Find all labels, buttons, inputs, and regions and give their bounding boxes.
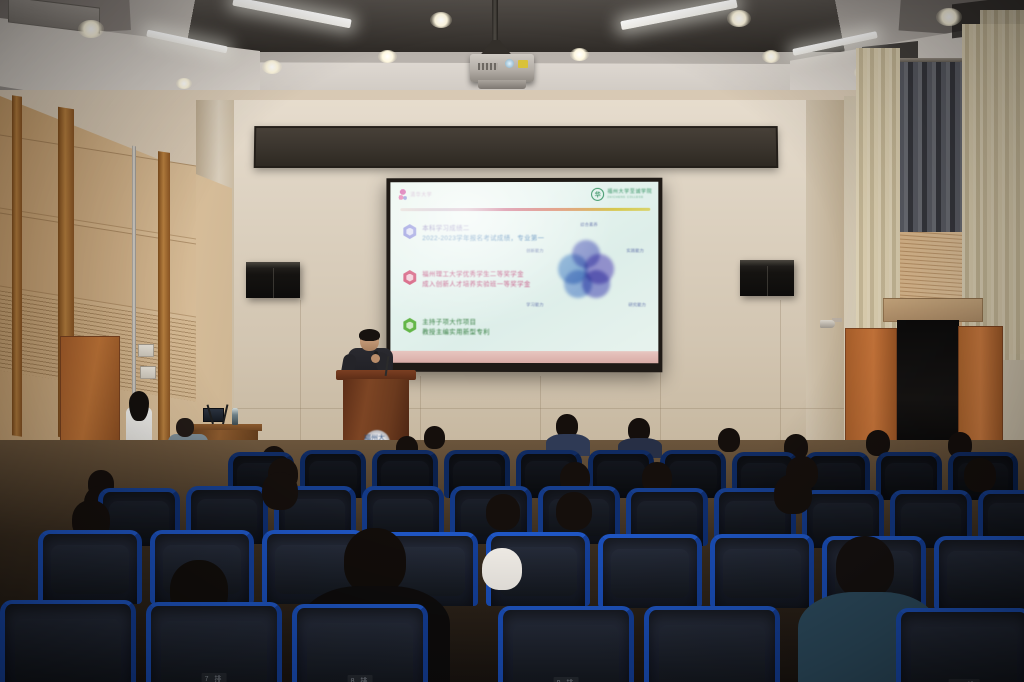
slide-logo-left: 清华大学 [398, 188, 454, 201]
projector-lens-icon [505, 59, 514, 68]
attendant-hair [129, 391, 149, 421]
audience-head-d1 [344, 528, 406, 594]
slide-bullet-3-line2: 教授主编实用新型专利 [422, 328, 490, 338]
door-opening [897, 320, 959, 452]
security-camera [820, 318, 842, 330]
left-wall-trim-2 [12, 95, 22, 437]
banner-valance-rail [254, 126, 779, 168]
ceiling-downlight-1 [78, 20, 104, 38]
left-exit-door[interactable] [60, 336, 120, 452]
front-wall-pillar-right [806, 100, 844, 450]
projector-badge-icon [518, 60, 528, 68]
slide-logo-right: 华 福州大学至诚学院 ZHICHENG COLLEGE [591, 187, 652, 201]
slide-org-name: 福州大学至诚学院 [607, 189, 652, 195]
seat-cushion [659, 625, 765, 682]
diagram-petal-bottom-right [582, 270, 610, 298]
screen-bottom-band [390, 351, 658, 363]
audience-head-far-5 [718, 428, 740, 452]
slide-bullet-1-text: 本科学习成绩二 2022-2023学年报名考试成绩，专业第一 [422, 224, 544, 244]
seat-cushion [911, 627, 1017, 682]
audience-head-d3 [482, 548, 522, 590]
diagram-label-1: 创新能力 [518, 248, 552, 254]
ceiling-downlight-4 [430, 12, 452, 28]
seat-cushion [988, 503, 1024, 541]
curtain-far-right-panel[interactable] [980, 10, 1024, 360]
seat-c7[interactable] [934, 536, 1024, 610]
seat-number-plate: 8 排 [348, 675, 373, 682]
slide-bullet-2-line1: 福州理工大学优秀学生二等奖学金 [422, 270, 530, 280]
wall-switch-plate-2[interactable] [140, 366, 156, 379]
projector-base [478, 80, 526, 89]
presenter-hand [371, 354, 380, 363]
slide-bullet-1-line1: 本科学习成绩二 [422, 224, 544, 234]
seat-cushion [813, 503, 873, 541]
seat-d2[interactable]: 8 排 [292, 604, 428, 682]
ceiling-downlight-8 [936, 8, 962, 26]
projector-mount-rod [492, 0, 498, 44]
audience-head-c2 [486, 494, 520, 530]
wall-seam-3 [540, 376, 541, 450]
ceiling-downlight-2 [262, 60, 282, 74]
slide-logo-left-text: 清华大学 [410, 191, 432, 198]
seat-d1[interactable]: 7 排 [146, 602, 282, 682]
seat-cushion [723, 549, 802, 598]
slide-accent-rule [400, 208, 650, 211]
seat-c4[interactable] [598, 534, 702, 608]
seat-cushion [637, 501, 697, 539]
hex-green-icon [402, 318, 417, 333]
diagram-label-3: 学习能力 [514, 302, 556, 308]
diagram-label-4: 研究能力 [616, 302, 658, 308]
slide-bullet-3-line1: 主持子项大作项目 [422, 318, 490, 328]
slide-bullet-1-line2: 2022-2023学年报名考试成绩，专业第一 [422, 234, 544, 244]
audience-head-c4 [774, 474, 812, 514]
operator-head [176, 418, 194, 437]
seat-number-plate: 9 排 [554, 677, 579, 682]
presenter-hair [359, 329, 380, 341]
slide-org-sub: ZHICHENG COLLEGE [607, 195, 652, 198]
wall-seam-2 [420, 376, 421, 450]
seat-d0[interactable] [0, 600, 136, 682]
wall-switch-plate-1[interactable] [138, 344, 154, 357]
seat-d5[interactable]: 10 排 [896, 608, 1024, 682]
hex-pink-icon [402, 270, 417, 285]
projection-screen: 清华大学 华 福州大学至诚学院 ZHICHENG COLLEGE 本科学习成绩二… [390, 182, 658, 364]
slide-bullet-2-text: 福州理工大学优秀学生二等奖学金 成入创新人才培养实验班一等奖学金 [422, 270, 530, 290]
seat-cushion [611, 549, 690, 598]
wall-speaker-right [740, 260, 794, 296]
left-wall-trim-3 [158, 151, 170, 443]
audience-head-c1 [262, 472, 298, 510]
audience-head-d2 [836, 536, 894, 598]
ceiling-downlight-5 [570, 48, 589, 61]
ceiling-downlight-3 [378, 50, 397, 63]
seat-d3[interactable]: 9 排 [498, 606, 634, 682]
diagram-label-5: 综合素养 [572, 222, 606, 228]
seat-d4[interactable] [644, 606, 780, 682]
camera-body [820, 320, 835, 328]
slide-bullet-3-text: 主持子项大作项目 教授主编实用新型专利 [422, 318, 490, 338]
audience-head-b5 [964, 458, 996, 492]
seat-number-plate: 7 排 [202, 673, 227, 682]
seat-cushion [15, 619, 121, 682]
slide-seal-icon: 华 [591, 187, 604, 200]
water-bottle [232, 408, 238, 425]
wall-seam-horizontal [200, 408, 844, 409]
rear-exit-door[interactable] [845, 320, 1003, 452]
lecture-hall-photo: 清华大学 华 福州大学至诚学院 ZHICHENG COLLEGE 本科学习成绩二… [0, 0, 1024, 682]
slide-logo-dots-icon [398, 189, 407, 200]
ceiling-downlight-6 [727, 10, 751, 27]
wall-speaker-left [246, 262, 300, 298]
audience-head-far-3 [424, 426, 445, 449]
slide-logo-right-text: 福州大学至诚学院 ZHICHENG COLLEGE [607, 189, 652, 199]
ceiling-downlight-7 [762, 50, 780, 63]
door-header [883, 298, 983, 322]
seat-cushion [947, 551, 1024, 600]
slide-diagram-flower [558, 240, 614, 300]
diagram-label-2: 实践能力 [618, 248, 652, 254]
seat-cushion [51, 545, 130, 594]
wall-seam-5 [780, 300, 781, 450]
seat-cushion [901, 503, 961, 541]
projector-vent-icon [478, 63, 498, 70]
slide-bullet-2-line2: 成入创新人才培养实验班一等奖学金 [422, 280, 530, 290]
projection-screen-frame: 清华大学 华 福州大学至诚学院 ZHICHENG COLLEGE 本科学习成绩二… [386, 178, 662, 373]
ceiling-downlight-10 [176, 78, 192, 89]
seat-cushion [307, 623, 413, 682]
seat-cneg1[interactable] [38, 530, 142, 604]
slide-bullet-3: 主持子项大作项目 教授主编实用新型专利 [402, 318, 592, 338]
seat-c5[interactable] [710, 534, 814, 608]
wall-seam-1 [300, 300, 301, 450]
hex-purple-icon [402, 224, 417, 239]
audience-head-c3 [556, 492, 592, 530]
seat-cushion [513, 625, 619, 682]
